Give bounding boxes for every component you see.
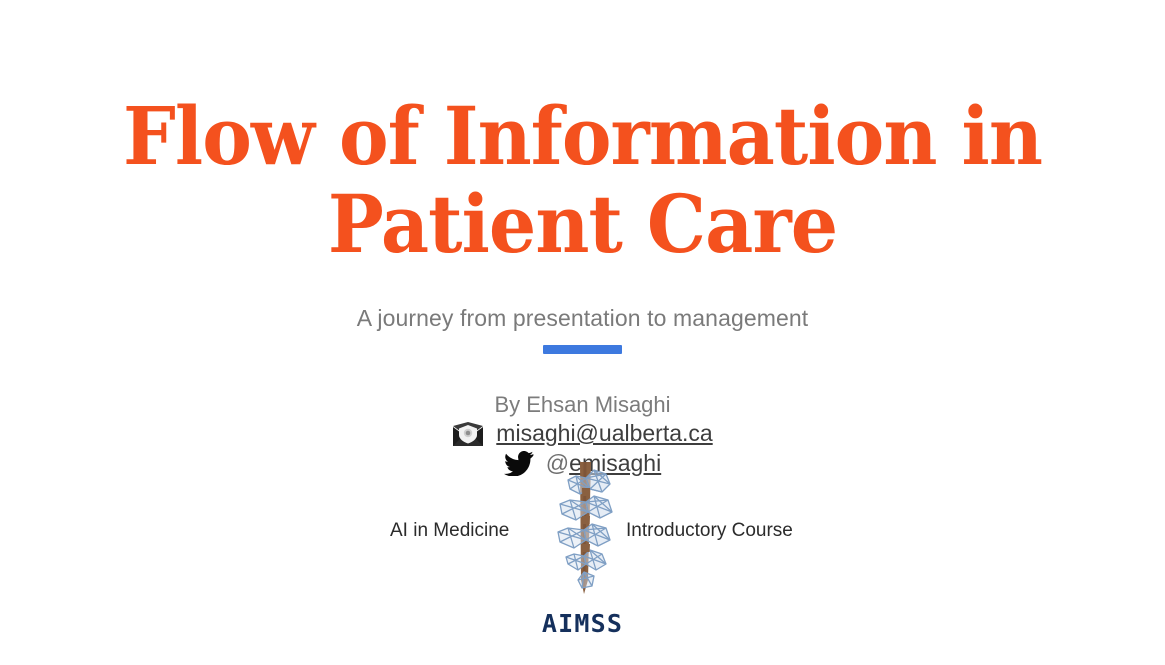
aimss-wordmark: AIMSS	[0, 609, 1165, 639]
email-address[interactable]: misaghi@ualberta.ca	[496, 419, 712, 448]
title-line-2: Patient Care	[41, 180, 1124, 268]
title-line-1: Flow of Information in	[41, 92, 1124, 180]
subtitle: A journey from presentation to managemen…	[0, 303, 1165, 333]
aimss-logo-icon	[536, 462, 632, 607]
divider-bar	[543, 345, 622, 354]
envelope-icon	[452, 421, 484, 447]
contact-email-row: misaghi@ualberta.ca	[0, 419, 1165, 448]
page-title: Flow of Information in Patient Care	[0, 92, 1165, 268]
footer-right-label: Introductory Course	[626, 518, 793, 544]
presentation-slide: Flow of Information in Patient Care A jo…	[0, 0, 1165, 665]
author-byline: By Ehsan Misaghi	[0, 391, 1165, 419]
footer-left-label: AI in Medicine	[390, 518, 509, 544]
twitter-bird-icon	[504, 451, 534, 477]
